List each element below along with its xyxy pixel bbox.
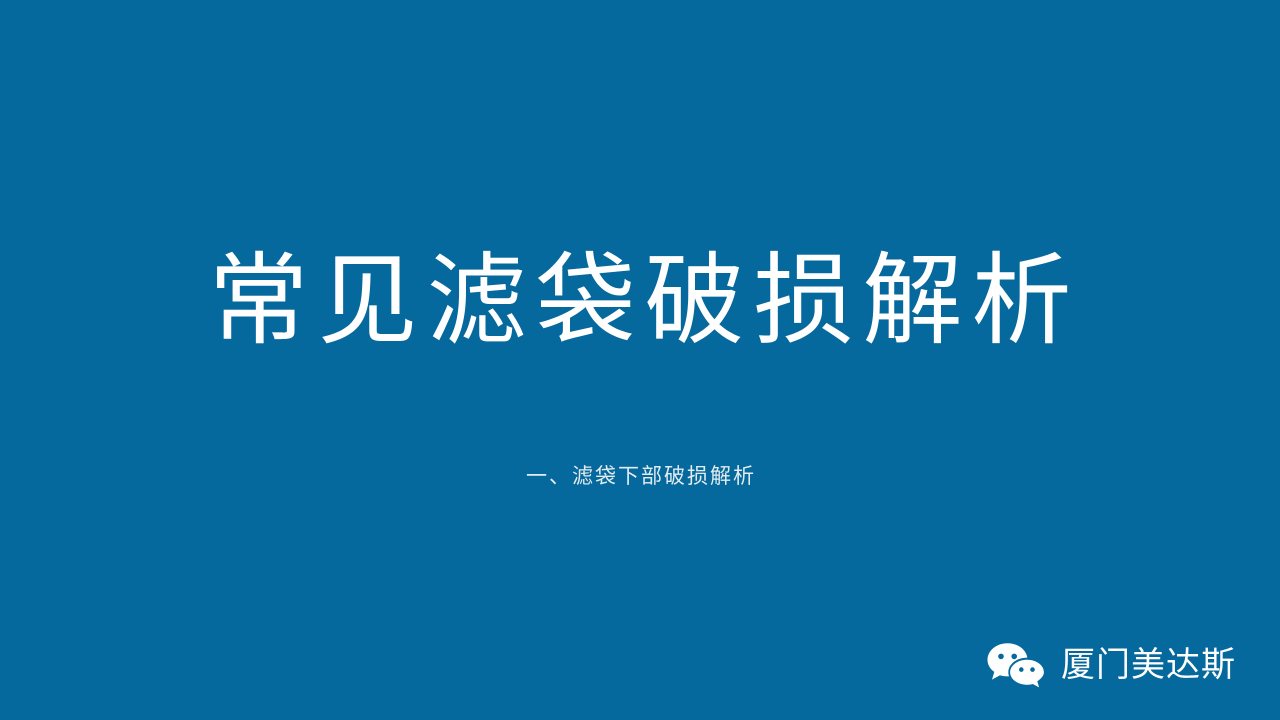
wechat-icon xyxy=(986,642,1048,688)
watermark: 厦门美达斯 xyxy=(986,642,1236,688)
watermark-label: 厦门美达斯 xyxy=(1061,648,1236,682)
page-title: 常见滤袋破损解析 xyxy=(200,246,1081,358)
presentation-slide: 常见滤袋破损解析 一、滤袋下部破损解析 厦门美达斯 xyxy=(0,0,1280,720)
slide-subtitle: 一、滤袋下部破损解析 xyxy=(524,463,756,489)
subtitle-block: 一、滤袋下部破损解析 xyxy=(0,463,1280,489)
title-block: 常见滤袋破损解析 xyxy=(0,246,1280,358)
